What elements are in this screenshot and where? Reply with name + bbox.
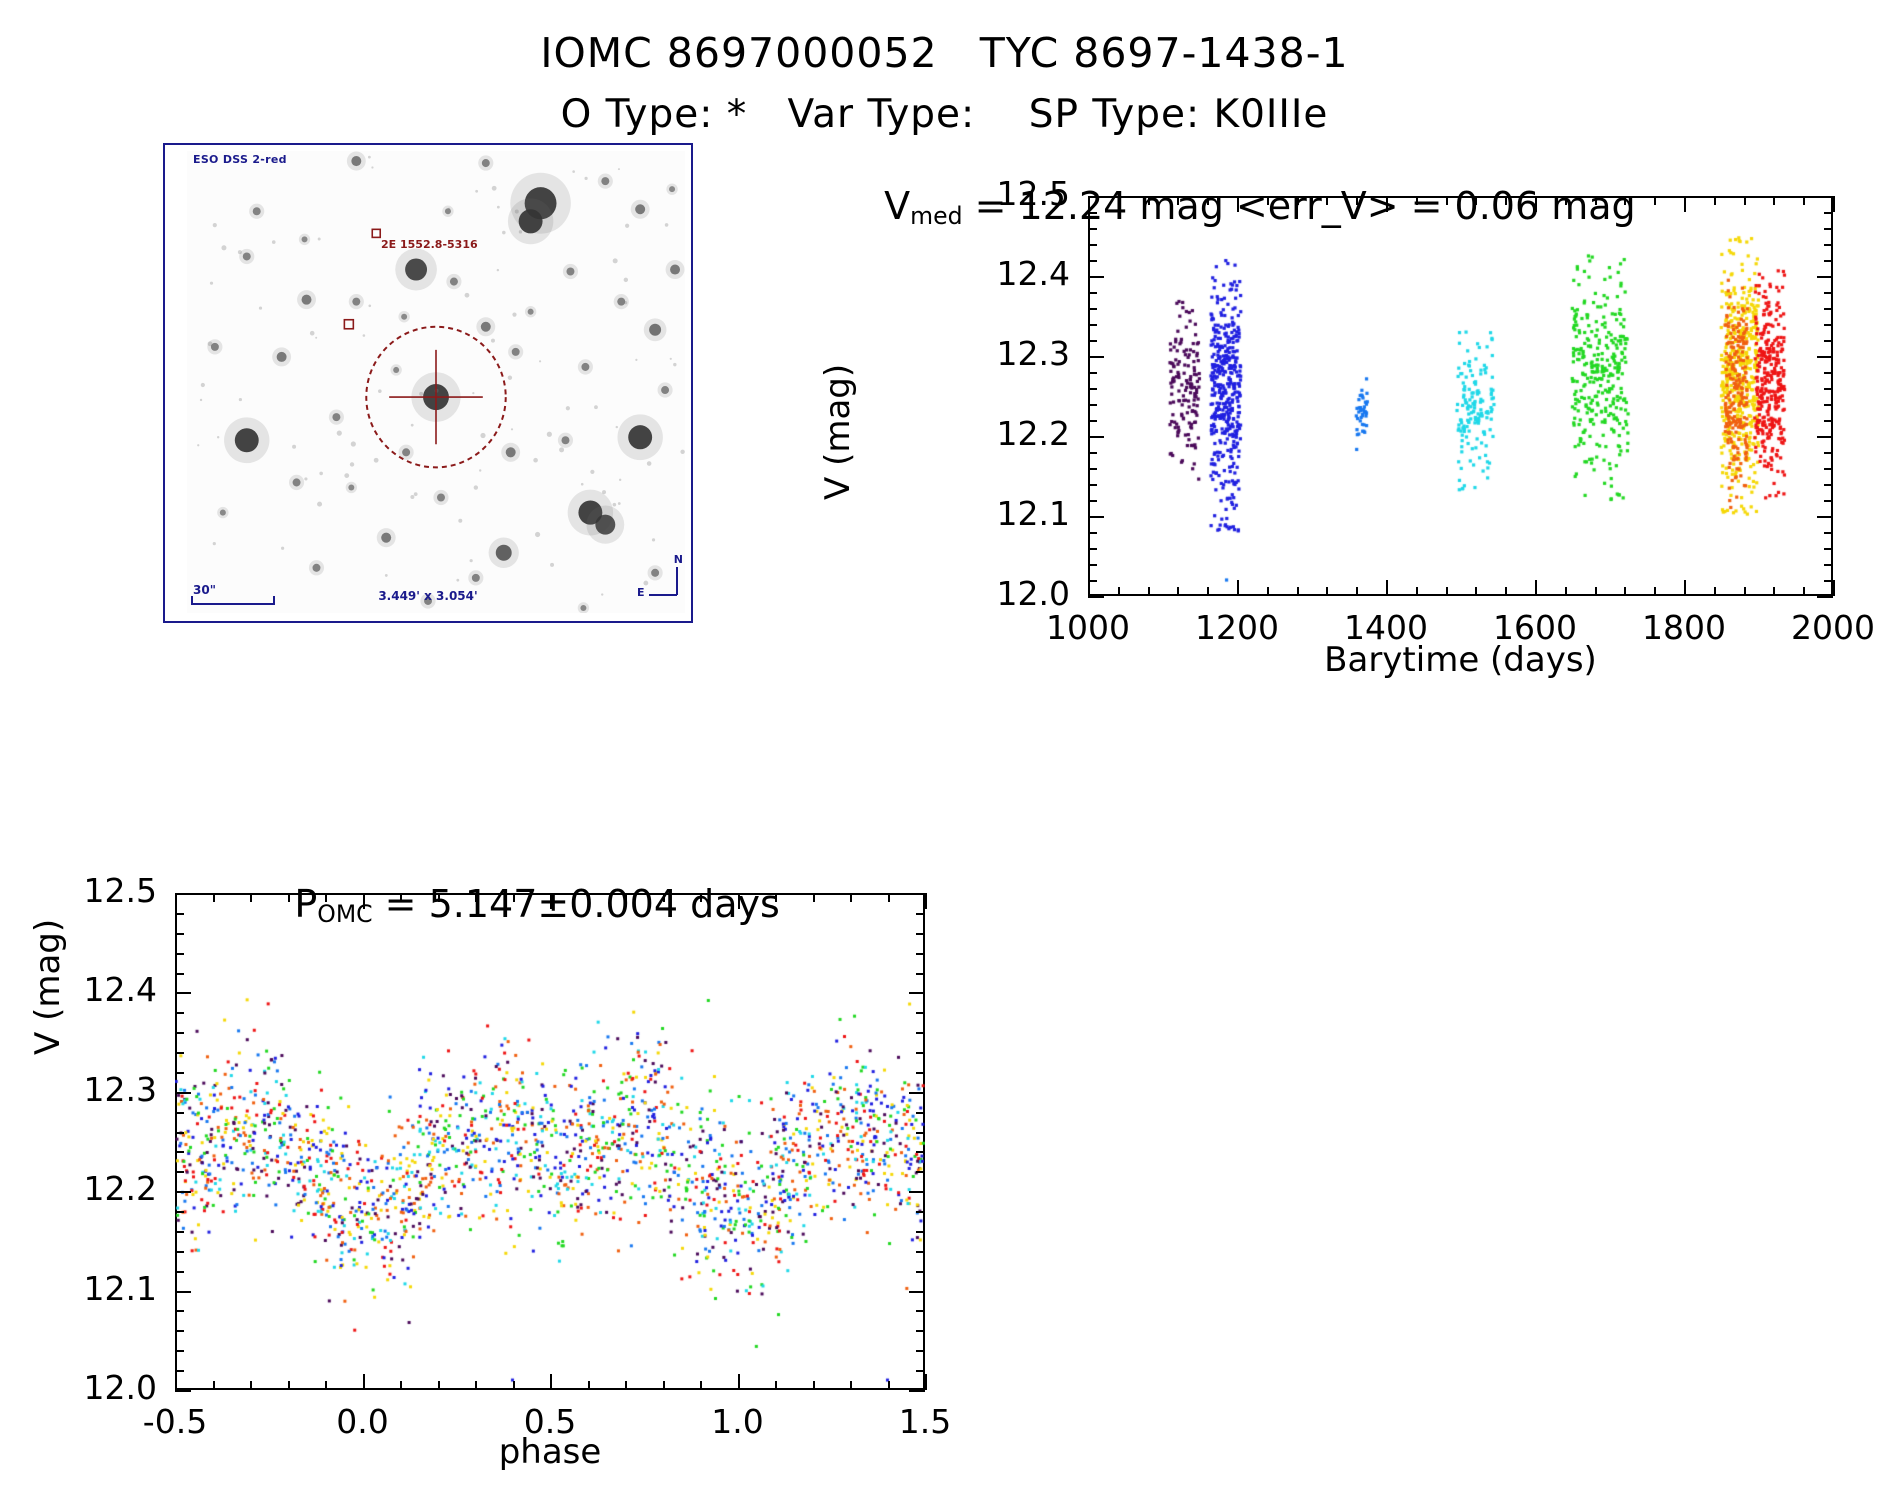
axis-minor-tick xyxy=(775,893,777,902)
survey-tag: ESO DSS 2-red xyxy=(193,153,287,166)
axis-minor-tick xyxy=(175,1072,184,1074)
axis-minor-tick xyxy=(1773,196,1775,205)
axis-minor-tick xyxy=(1326,587,1328,596)
phase-data-points xyxy=(175,893,925,1390)
axis-minor-tick xyxy=(1088,580,1097,582)
axis-tick xyxy=(1088,196,1090,212)
axis-minor-tick xyxy=(700,893,702,902)
axis-minor-tick xyxy=(175,1112,184,1114)
compass-north-label: N xyxy=(674,553,683,566)
axis-minor-tick xyxy=(1595,196,1597,205)
axis-minor-tick xyxy=(1267,196,1269,205)
axis-tick xyxy=(1817,356,1833,358)
axis-minor-tick xyxy=(1475,196,1477,205)
axis-minor-tick xyxy=(1088,292,1097,294)
x-tick-label: 0.5 xyxy=(480,1402,620,1441)
axis-minor-tick xyxy=(916,933,925,935)
phase-plot-area[interactable] xyxy=(175,893,925,1390)
axis-minor-tick xyxy=(175,1012,184,1014)
y-tick-label: 12.4 xyxy=(908,254,1070,293)
axis-minor-tick xyxy=(175,1052,184,1054)
axis-minor-tick xyxy=(175,1032,184,1034)
lightcurve-data-points xyxy=(1088,196,1833,596)
axis-minor-tick xyxy=(1773,587,1775,596)
y-tick-label: 12.4 xyxy=(0,970,157,1009)
axis-minor-tick xyxy=(1177,587,1179,596)
axis-minor-tick xyxy=(513,893,515,902)
axis-minor-tick xyxy=(1088,228,1097,230)
axis-minor-tick xyxy=(1565,196,1567,205)
axis-minor-tick xyxy=(1088,244,1097,246)
axis-tick xyxy=(1088,196,1104,198)
axis-minor-tick xyxy=(1207,196,1209,205)
axis-minor-tick xyxy=(400,1381,402,1390)
axis-minor-tick xyxy=(663,1381,665,1390)
axis-tick xyxy=(1237,196,1239,212)
axis-tick xyxy=(550,1374,552,1390)
axis-minor-tick xyxy=(1714,587,1716,596)
axis-minor-tick xyxy=(916,1112,925,1114)
axis-minor-tick xyxy=(916,1330,925,1332)
x-tick-label: 0.0 xyxy=(293,1402,433,1441)
axis-minor-tick xyxy=(1824,564,1833,566)
axis-minor-tick xyxy=(1744,587,1746,596)
axis-minor-tick xyxy=(175,1132,184,1134)
y-tick-label: 12.1 xyxy=(0,1269,157,1308)
axis-minor-tick xyxy=(916,1012,925,1014)
field-of-view-label: 3.449' x 3.054' xyxy=(378,589,477,603)
axis-minor-tick xyxy=(175,1211,184,1213)
axis-tick xyxy=(1088,356,1104,358)
axis-minor-tick xyxy=(1595,587,1597,596)
axis-minor-tick xyxy=(1088,468,1097,470)
axis-minor-tick xyxy=(775,1381,777,1390)
title-line-identifiers: IOMC 8697000052 TYC 8697-1438-1 xyxy=(0,22,1889,84)
axis-minor-tick xyxy=(1356,196,1358,205)
axis-minor-tick xyxy=(1088,388,1097,390)
x-tick-label: -0.5 xyxy=(105,1402,245,1441)
axis-minor-tick xyxy=(1088,404,1097,406)
axis-minor-tick xyxy=(513,1381,515,1390)
axis-tick xyxy=(1833,580,1835,596)
axis-minor-tick xyxy=(1824,468,1833,470)
axis-minor-tick xyxy=(1824,420,1833,422)
axis-minor-tick xyxy=(1654,196,1656,205)
x-tick-label: 1400 xyxy=(1316,608,1456,647)
axis-minor-tick xyxy=(916,1310,925,1312)
axis-minor-tick xyxy=(1824,212,1833,214)
axis-minor-tick xyxy=(175,1251,184,1253)
axis-tick xyxy=(1817,516,1833,518)
axis-minor-tick xyxy=(916,1350,925,1352)
axis-minor-tick xyxy=(1824,404,1833,406)
axis-minor-tick xyxy=(475,1381,477,1390)
axis-minor-tick xyxy=(1118,196,1120,205)
axis-minor-tick xyxy=(1088,484,1097,486)
axis-minor-tick xyxy=(175,1310,184,1312)
axis-minor-tick xyxy=(1824,580,1833,582)
axis-tick xyxy=(1088,436,1104,438)
axis-tick xyxy=(925,893,927,909)
axis-minor-tick xyxy=(175,1350,184,1352)
axis-minor-tick xyxy=(175,933,184,935)
sky-image xyxy=(187,151,685,613)
x-tick-label: 1200 xyxy=(1167,608,1307,647)
x-tick-label: 1600 xyxy=(1465,608,1605,647)
axis-tick xyxy=(1684,580,1686,596)
axis-minor-tick xyxy=(213,1381,215,1390)
axis-minor-tick xyxy=(438,893,440,902)
axis-minor-tick xyxy=(288,1381,290,1390)
axis-minor-tick xyxy=(325,1381,327,1390)
axis-minor-tick xyxy=(1824,388,1833,390)
axis-tick xyxy=(909,1390,925,1392)
axis-tick xyxy=(1684,196,1686,212)
axis-minor-tick xyxy=(1824,452,1833,454)
axis-minor-tick xyxy=(1624,587,1626,596)
axis-minor-tick xyxy=(916,1211,925,1213)
axis-minor-tick xyxy=(1088,260,1097,262)
x-tick-label: 2000 xyxy=(1763,608,1889,647)
axis-tick xyxy=(1817,276,1833,278)
axis-minor-tick xyxy=(916,1231,925,1233)
axis-minor-tick xyxy=(1088,452,1097,454)
source-label: 2E 1552.8-5316 xyxy=(381,238,478,251)
axis-minor-tick xyxy=(916,953,925,955)
axis-minor-tick xyxy=(1744,196,1746,205)
axis-tick xyxy=(1088,516,1104,518)
axis-minor-tick xyxy=(175,1151,184,1153)
axis-minor-tick xyxy=(916,1032,925,1034)
axis-minor-tick xyxy=(1088,548,1097,550)
axis-tick xyxy=(1088,596,1104,598)
axis-minor-tick xyxy=(1177,196,1179,205)
axis-minor-tick xyxy=(1446,587,1448,596)
axis-minor-tick xyxy=(1356,587,1358,596)
axis-minor-tick xyxy=(1824,308,1833,310)
axis-minor-tick xyxy=(175,913,184,915)
axis-tick xyxy=(175,1291,191,1293)
axis-minor-tick xyxy=(1824,292,1833,294)
axis-tick xyxy=(175,1390,191,1392)
axis-minor-tick xyxy=(916,1370,925,1372)
axis-tick xyxy=(738,1374,740,1390)
axis-tick xyxy=(1817,596,1833,598)
axis-minor-tick xyxy=(1088,324,1097,326)
axis-minor-tick xyxy=(1505,196,1507,205)
axis-minor-tick xyxy=(175,1271,184,1273)
axis-tick xyxy=(909,992,925,994)
sky-stars xyxy=(187,151,685,613)
axis-tick xyxy=(550,893,552,909)
axis-tick xyxy=(909,893,925,895)
axis-minor-tick xyxy=(1088,308,1097,310)
axis-minor-tick xyxy=(1088,340,1097,342)
axis-minor-tick xyxy=(1326,196,1328,205)
axis-minor-tick xyxy=(1207,587,1209,596)
axis-tick xyxy=(363,893,365,909)
axis-minor-tick xyxy=(1297,196,1299,205)
axis-minor-tick xyxy=(1824,324,1833,326)
axis-minor-tick xyxy=(916,1132,925,1134)
axis-minor-tick xyxy=(175,1370,184,1372)
title-line-types: O Type: * Var Type: SP Type: K0IIIe xyxy=(0,84,1889,146)
axis-tick xyxy=(1535,580,1537,596)
axis-tick xyxy=(1833,196,1835,212)
axis-tick xyxy=(909,1092,925,1094)
axis-minor-tick xyxy=(1088,500,1097,502)
axis-minor-tick xyxy=(916,913,925,915)
y-tick-label: 12.1 xyxy=(908,494,1070,533)
axis-minor-tick xyxy=(175,1231,184,1233)
axis-minor-tick xyxy=(1824,500,1833,502)
axis-minor-tick xyxy=(813,893,815,902)
axis-minor-tick xyxy=(1088,372,1097,374)
lightcurve-plot-area[interactable] xyxy=(1088,196,1833,596)
axis-minor-tick xyxy=(850,893,852,902)
axis-minor-tick xyxy=(1088,212,1097,214)
axis-minor-tick xyxy=(1654,587,1656,596)
y-tick-label: 12.3 xyxy=(0,1070,157,1109)
axis-minor-tick xyxy=(1148,196,1150,205)
axis-tick xyxy=(175,1374,177,1390)
lightcurve-y-axis-title: V (mag) xyxy=(818,364,858,500)
axis-minor-tick xyxy=(1297,587,1299,596)
axis-minor-tick xyxy=(1088,564,1097,566)
axis-minor-tick xyxy=(1446,196,1448,205)
axis-tick xyxy=(175,893,177,909)
axis-minor-tick xyxy=(438,1381,440,1390)
axis-minor-tick xyxy=(1824,532,1833,534)
axis-minor-tick xyxy=(1824,340,1833,342)
axis-minor-tick xyxy=(213,893,215,902)
axis-minor-tick xyxy=(1416,196,1418,205)
lightcurve-title-v: V xyxy=(884,184,910,228)
axis-tick xyxy=(925,1374,927,1390)
y-tick-label: 12.2 xyxy=(908,414,1070,453)
axis-minor-tick xyxy=(916,1271,925,1273)
axis-minor-tick xyxy=(175,953,184,955)
axis-tick xyxy=(175,1191,191,1193)
axis-minor-tick xyxy=(700,1381,702,1390)
axis-minor-tick xyxy=(625,893,627,902)
scale-bar-label: 30" xyxy=(193,583,216,597)
axis-minor-tick xyxy=(175,973,184,975)
axis-tick xyxy=(738,893,740,909)
axis-minor-tick xyxy=(1824,484,1833,486)
x-tick-label: 1.0 xyxy=(668,1402,808,1441)
x-tick-label: 1800 xyxy=(1614,608,1754,647)
y-tick-label: 12.3 xyxy=(908,334,1070,373)
axis-minor-tick xyxy=(1475,587,1477,596)
axis-minor-tick xyxy=(1624,196,1626,205)
axis-minor-tick xyxy=(288,893,290,902)
axis-minor-tick xyxy=(1267,587,1269,596)
axis-minor-tick xyxy=(588,893,590,902)
scale-bar xyxy=(191,596,275,605)
axis-minor-tick xyxy=(850,1381,852,1390)
axis-tick xyxy=(1386,196,1388,212)
axis-minor-tick xyxy=(1824,548,1833,550)
axis-tick xyxy=(1237,580,1239,596)
axis-minor-tick xyxy=(916,1151,925,1153)
axis-minor-tick xyxy=(663,893,665,902)
axis-tick xyxy=(1088,276,1104,278)
axis-tick xyxy=(1535,196,1537,212)
axis-minor-tick xyxy=(1824,244,1833,246)
axis-minor-tick xyxy=(400,893,402,902)
finder-chart[interactable]: ESO DSS 2-red 2E 1552.8-5316 30" 3.449' … xyxy=(163,143,693,623)
compass-east-label: E xyxy=(637,586,645,599)
axis-tick xyxy=(363,1374,365,1390)
axis-minor-tick xyxy=(325,893,327,902)
axis-minor-tick xyxy=(1088,532,1097,534)
axis-tick xyxy=(1817,436,1833,438)
axis-minor-tick xyxy=(175,1330,184,1332)
x-tick-label: 1000 xyxy=(1018,608,1158,647)
axis-minor-tick xyxy=(250,1381,252,1390)
axis-minor-tick xyxy=(916,1052,925,1054)
axis-tick xyxy=(1817,196,1833,198)
axis-minor-tick xyxy=(916,1251,925,1253)
axis-minor-tick xyxy=(813,1381,815,1390)
axis-minor-tick xyxy=(1118,587,1120,596)
axis-minor-tick xyxy=(625,1381,627,1390)
axis-minor-tick xyxy=(175,1171,184,1173)
axis-tick xyxy=(175,893,191,895)
axis-minor-tick xyxy=(475,893,477,902)
axis-minor-tick xyxy=(1714,196,1716,205)
page-title: IOMC 8697000052 TYC 8697-1438-1 O Type: … xyxy=(0,22,1889,146)
axis-minor-tick xyxy=(1803,196,1805,205)
axis-minor-tick xyxy=(1088,420,1097,422)
axis-minor-tick xyxy=(916,1072,925,1074)
axis-minor-tick xyxy=(888,1381,890,1390)
y-tick-label: 12.5 xyxy=(908,174,1070,213)
compass-icon: N E xyxy=(639,555,683,603)
axis-minor-tick xyxy=(1824,228,1833,230)
axis-minor-tick xyxy=(1565,587,1567,596)
y-tick-label: 12.2 xyxy=(0,1169,157,1208)
axis-minor-tick xyxy=(916,973,925,975)
axis-minor-tick xyxy=(1505,587,1507,596)
axis-minor-tick xyxy=(250,893,252,902)
y-tick-label: 12.5 xyxy=(0,871,157,910)
axis-minor-tick xyxy=(888,893,890,902)
axis-minor-tick xyxy=(916,1171,925,1173)
axis-minor-tick xyxy=(1824,260,1833,262)
axis-tick xyxy=(175,1092,191,1094)
axis-tick xyxy=(909,1191,925,1193)
axis-tick xyxy=(1088,580,1090,596)
axis-tick xyxy=(909,1291,925,1293)
axis-tick xyxy=(175,992,191,994)
axis-tick xyxy=(1386,580,1388,596)
axis-minor-tick xyxy=(1824,372,1833,374)
x-tick-label: 1.5 xyxy=(855,1402,995,1441)
axis-minor-tick xyxy=(1148,587,1150,596)
axis-minor-tick xyxy=(588,1381,590,1390)
axis-minor-tick xyxy=(1416,587,1418,596)
axis-minor-tick xyxy=(1803,587,1805,596)
